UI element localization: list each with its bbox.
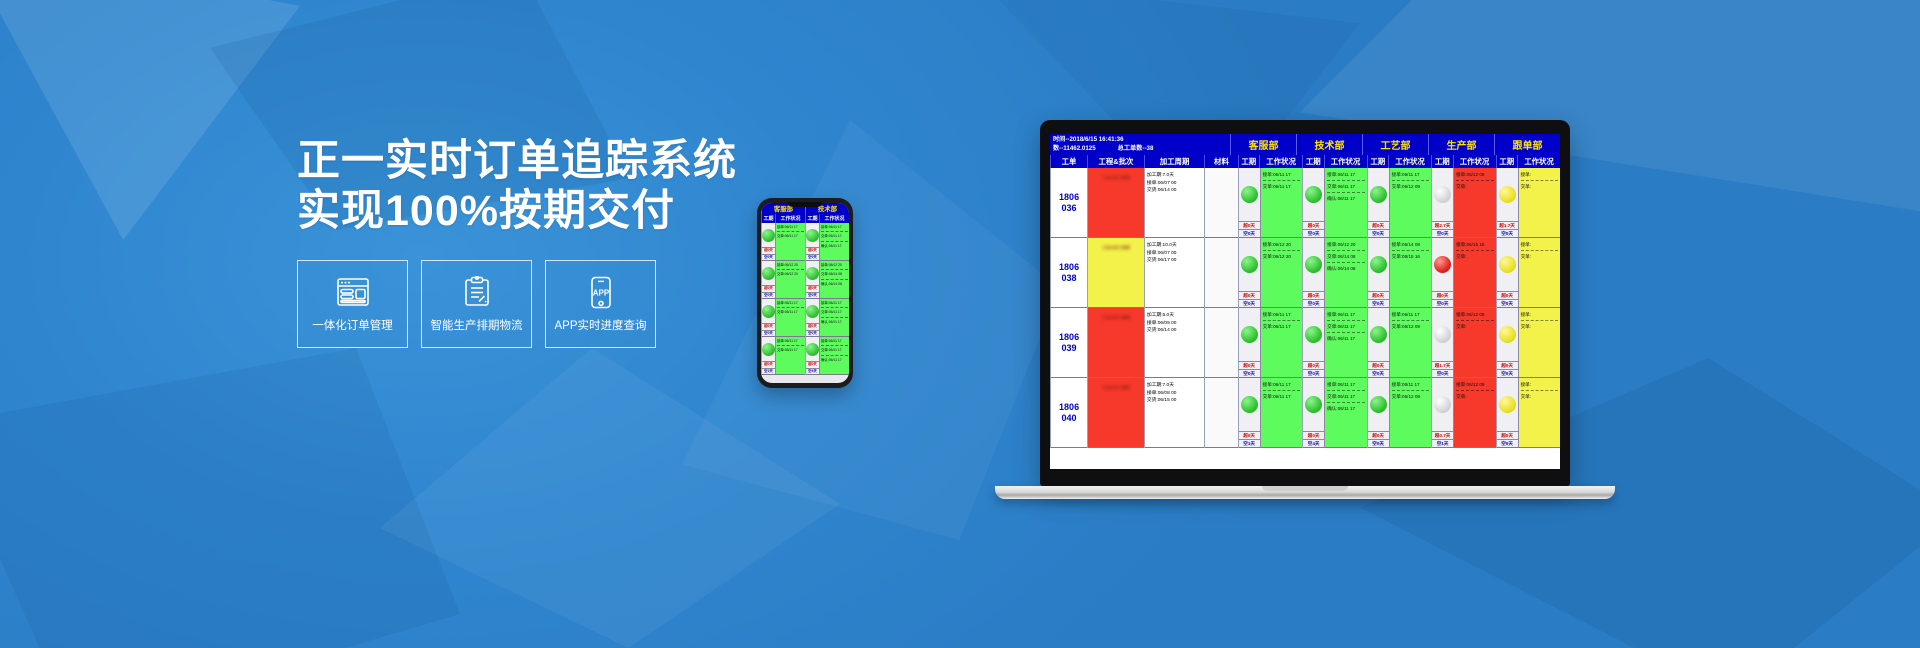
- phone-status-cell[interactable]: 超0天空0天接单:06/11 17交单:06/11 17: [762, 299, 805, 337]
- status-lamp-yellow[interactable]: [1499, 186, 1516, 203]
- date-line-1: 接单:06/12 20: [1263, 241, 1300, 251]
- idle-tag: 空0天: [1497, 229, 1518, 237]
- phone-column-header-客服部-工作状况: 工作状况: [775, 214, 805, 223]
- feature-card-production-scheduling[interactable]: 智能生产排期物流: [421, 260, 532, 348]
- idle-tag: 空0天: [1432, 229, 1453, 237]
- phone-lamp-wrapper: [806, 299, 819, 323]
- department-column-工艺部: 超0天空0天接单:06/11 17交单:06/12 09超0天空0天接单:06/…: [1367, 168, 1431, 448]
- phone-notch: [788, 202, 822, 207]
- feature-card-order-management[interactable]: 一体化订单管理: [297, 260, 408, 348]
- feature-label: APP实时进度查询: [554, 317, 646, 333]
- status-lamp-wrapper: [1497, 168, 1518, 221]
- overdue-tag: 超0天: [1239, 291, 1260, 299]
- duration-column-cell: 超0天空4天: [1303, 378, 1325, 447]
- department-header-3: 工艺部: [1362, 134, 1428, 155]
- work-status-dates: 接单:06/12 09交单:: [1454, 168, 1495, 237]
- date-line-2: 交单:: [1521, 393, 1558, 402]
- idle-tag: 空0天: [1497, 299, 1518, 307]
- work-order-suffix: 039: [1062, 343, 1077, 354]
- phone-status-cell[interactable]: 超0天空0天接单:06/11 17交单:06/11 17确认:06/11 17: [806, 223, 849, 261]
- material-cell[interactable]: [1205, 238, 1237, 308]
- status-lamp-wrapper: [1368, 168, 1389, 221]
- status-cell-生产部[interactable]: 超1.7天空0天接单:06/12 09交单:: [1432, 308, 1495, 378]
- overdue-tag: 超1.7天: [1497, 221, 1518, 229]
- phone-date-line-1: 接单:06/11 17: [821, 339, 848, 346]
- phone-work-status-dates: 接单:06/11 17交单:06/11 17确认:06/11 17: [820, 299, 849, 336]
- overdue-tag: 超0天: [1432, 291, 1453, 299]
- project-name-redacted: 工程名称已模糊: [1088, 308, 1144, 321]
- phone-duration-cell: 超0天空1天: [762, 337, 776, 374]
- column-header-base-1: 工单: [1050, 155, 1087, 168]
- erp-subheader-row: 工单工程&批次加工周期材料工期工作状况工期工作状况工期工作状况工期工作状况工期工…: [1050, 155, 1560, 168]
- overdue-tag: 超0.7天: [1432, 431, 1453, 439]
- date-line-1: 接单:: [1521, 171, 1558, 181]
- status-lamp-wrapper: [1368, 378, 1389, 431]
- phone-date-line-2: 交单:06/11 17: [821, 310, 848, 317]
- department-header-4: 生产部: [1428, 134, 1494, 155]
- date-line-1: 接单:06/11 17: [1263, 311, 1300, 321]
- status-cell-跟单部[interactable]: 超0天空0天接单:交单:: [1497, 238, 1560, 308]
- date-line-2: 交单:06/11 17: [1327, 323, 1364, 333]
- column-header-base-3: 加工周期: [1144, 155, 1205, 168]
- erp-table-grid[interactable]: 1806036180603818060391806040工程名称已模糊工程名称已…: [1050, 168, 1560, 448]
- phone-lamp-wrapper: [762, 299, 775, 323]
- work-status-dates: 接单:06/14 08交单:06/15 16: [1390, 238, 1431, 307]
- status-lamp-green[interactable]: [1305, 326, 1322, 343]
- date-line-1: 接单:06/12 09: [1456, 171, 1493, 181]
- phone-status-cell[interactable]: 超0天空4天接单:06/11 17交单:06/11 17确认:06/11 17: [806, 337, 849, 375]
- date-line-2: 交单:06/12 09: [1392, 183, 1429, 192]
- overdue-tag: 超0天: [1303, 221, 1324, 229]
- idle-tag: 空0天: [1303, 229, 1324, 237]
- date-line-1: 接单:06/11 17: [1327, 171, 1364, 181]
- phone-duration-cell: 超0天空0天: [806, 261, 820, 298]
- status-cell-技术部[interactable]: 超0天空0天接单:06/11 17交单:06/11 17确认:06/11 17: [1303, 168, 1366, 238]
- status-cell-工艺部[interactable]: 超0天空0天接单:06/11 17交单:06/12 09: [1368, 308, 1431, 378]
- phone-lamp-wrapper: [806, 223, 819, 247]
- phone-duration-cell: 超0天空0天: [806, 299, 820, 336]
- date-line-3: 确认:06/11 17: [1327, 195, 1364, 204]
- phone-status-lamp-green[interactable]: [806, 305, 819, 318]
- idle-tag: 空0天: [1432, 369, 1453, 377]
- status-lamp-wrapper: [1303, 168, 1324, 221]
- work-status-dates: 接单:交单:: [1519, 238, 1560, 307]
- overdue-tag: 超0天: [1239, 431, 1260, 439]
- feature-label: 智能生产排期物流: [431, 317, 523, 333]
- material-cell[interactable]: [1205, 308, 1237, 378]
- phone-date-line-2: 交单:06/11 17: [777, 310, 804, 316]
- feature-list: 一体化订单管理 智能生产排期物流: [297, 260, 997, 348]
- status-cell-跟单部[interactable]: 超0天空0天接单:交单:: [1497, 378, 1560, 448]
- department-column-生产部: 超2.7天空0天接单:06/12 09交单:超0天空0天接单:06/15 16交…: [1431, 168, 1495, 448]
- cycle-line-2: 接单:06/08 00: [1147, 390, 1203, 398]
- column-header-客服部-工作状况: 工作状况: [1259, 155, 1302, 168]
- status-lamp-green[interactable]: [1305, 256, 1322, 273]
- status-lamp-yellow[interactable]: [1499, 396, 1516, 413]
- overdue-tag: 超1.7天: [1432, 361, 1453, 369]
- date-line-2: 交单:06/11 17: [1263, 323, 1300, 332]
- status-lamp-green[interactable]: [1305, 396, 1322, 413]
- phone-status-lamp-green[interactable]: [806, 267, 819, 280]
- department-column-客服部: 超0天空0天接单:06/11 17交单:06/11 17超0天空0天接单:06/…: [1238, 168, 1302, 448]
- status-lamp-wrapper: [1239, 308, 1260, 361]
- date-line-2: 交单:06/11 17: [1263, 183, 1300, 192]
- cycle-line-1: 加工期:10.0天: [1147, 242, 1203, 250]
- duration-column-cell: 超0天空0天: [1497, 238, 1519, 307]
- app-icon-text: APP: [592, 288, 609, 297]
- work-order-prefix: 1806: [1059, 262, 1079, 273]
- phone-work-status-dates: 接单:06/11 17交单:06/11 17确认:06/11 17: [820, 223, 849, 260]
- phone-idle-tag: 空0天: [762, 330, 775, 336]
- duration-column-cell: 超1.7天空0天: [1497, 168, 1519, 237]
- column-header-技术部-工期: 工期: [1302, 155, 1324, 168]
- project-name-redacted: 工程名称已模糊: [1088, 168, 1144, 181]
- idle-tag: 空0天: [1239, 299, 1260, 307]
- work-order-prefix: 1806: [1059, 332, 1079, 343]
- processing-cycle-cell[interactable]: 加工期:10.0天接单:06/07 00交货:06/17 00: [1145, 238, 1205, 308]
- column-header-技术部-工作状况: 工作状况: [1324, 155, 1367, 168]
- phone-column-header-技术部-工作状况: 工作状况: [819, 214, 849, 223]
- status-lamp-wrapper: [1303, 378, 1324, 431]
- date-line-2: 交单:06/14 08: [1327, 253, 1364, 263]
- phone-screen[interactable]: 客服部技术部 工期工作状况工期工作状况 超0天空0天接单:06/11 17交单:…: [761, 203, 849, 383]
- phone-status-lamp-green[interactable]: [806, 343, 819, 356]
- cycle-line-1: 加工期:7.0天: [1147, 382, 1203, 390]
- processing-cycle-cell[interactable]: 加工期:7.0天接单:06/07 00交货:06/14 00: [1145, 168, 1205, 238]
- hero-banner: 正一实时订单追踪系统 实现100%按期交付: [0, 0, 1920, 648]
- phone-work-status-dates: 接单:06/11 17交单:06/11 17确认:06/11 17: [820, 337, 849, 374]
- column-header-工艺部-工作状况: 工作状况: [1388, 155, 1431, 168]
- date-line-3: 确认:06/14 08: [1327, 265, 1364, 274]
- column-header-跟单部-工作状况: 工作状况: [1517, 155, 1560, 168]
- phone-lamp-wrapper: [806, 261, 819, 285]
- laptop-screen[interactable]: 时间--2018/6/15 16:41:36 数--11462.0125 总工单…: [1050, 134, 1560, 469]
- overdue-tag: 超0天: [1239, 361, 1260, 369]
- cycle-line-2: 接单:06/07 00: [1147, 180, 1203, 188]
- erp-counter-label: 数--11462.0125: [1053, 145, 1096, 154]
- status-cell-技术部[interactable]: 超0天空4天接单:06/11 17交单:06/11 17确认:06/11 17: [1303, 378, 1366, 448]
- phone-idle-tag: 空4天: [806, 368, 819, 374]
- duration-column-cell: 超0天空0天: [1239, 238, 1261, 307]
- date-line-3: 确认:06/11 17: [1327, 335, 1364, 344]
- work-status-dates: 接单:交单:: [1519, 168, 1560, 237]
- processing-cycle-cell[interactable]: 加工期:7.0天接单:06/08 00交货:06/15 00: [1145, 378, 1205, 448]
- phone-status-cell[interactable]: 超0天空0天接单:06/12 20交单:06/14 08确认:06/14 08: [806, 261, 849, 299]
- phone-date-line-1: 接单:06/11 17: [777, 339, 804, 346]
- status-lamp-green[interactable]: [1241, 186, 1258, 203]
- work-status-dates: 接单:06/12 09交单:: [1454, 378, 1495, 447]
- duration-column-cell: 超0天空0天: [1239, 308, 1261, 377]
- status-lamp-green[interactable]: [1241, 256, 1258, 273]
- duration-column-cell: 超1.7天空0天: [1432, 308, 1454, 377]
- idle-tag: 空0天: [1432, 299, 1453, 307]
- status-cell-生产部[interactable]: 超0.7天空1天接单:06/12 09交单:: [1432, 378, 1495, 448]
- column-header-工艺部-工期: 工期: [1367, 155, 1389, 168]
- phone-status-cell[interactable]: 超0天空0天接单:06/11 17交单:06/11 17确认:06/11 17: [806, 299, 849, 337]
- date-line-2: 交单:06/12 20: [1263, 253, 1300, 262]
- duration-column-cell: 超0天空0天: [1368, 308, 1390, 377]
- phone-work-status-dates: 接单:06/12 20交单:06/12 20: [776, 261, 805, 298]
- phone-status-cell[interactable]: 超0天空0天接单:06/11 17交单:06/11 17: [762, 223, 805, 261]
- processing-cycle-cell[interactable]: 加工期:5.0天接单:06/09 00交货:06/14 00: [1145, 308, 1205, 378]
- feature-label: 一体化订单管理: [312, 317, 393, 333]
- duration-column-cell: 超0天空0天: [1239, 168, 1261, 237]
- status-cell-生产部[interactable]: 超0天空0天接单:06/15 16交单:: [1432, 238, 1495, 308]
- date-line-1: 接单:06/12 09: [1456, 381, 1493, 391]
- phone-duration-cell: 超0天空0天: [806, 223, 820, 260]
- phone-column-header-技术部-工期: 工期: [805, 214, 819, 223]
- column-header-跟单部-工期: 工期: [1496, 155, 1518, 168]
- idle-tag: 空0天: [1303, 299, 1324, 307]
- date-line-2: 交单:: [1521, 323, 1558, 332]
- work-status-dates: 接单:交单:: [1519, 378, 1560, 447]
- laptop-base: [995, 486, 1615, 499]
- duration-column-cell: 超0天空0天: [1432, 238, 1454, 307]
- status-lamp-green[interactable]: [1241, 326, 1258, 343]
- idle-tag: 空1天: [1239, 439, 1260, 447]
- phone-department-column-技术部: 超0天空0天接单:06/11 17交单:06/11 17确认:06/11 17超…: [805, 223, 849, 375]
- work-status-dates: 接单:06/11 17交单:06/11 17确认:06/11 17: [1325, 308, 1366, 377]
- project-name-redacted: 工程名称已模糊: [1088, 238, 1144, 251]
- work-status-dates: 接单:06/11 17交单:06/11 17: [1261, 168, 1302, 237]
- date-line-2: 交单:: [1521, 253, 1558, 262]
- work-status-dates: 接单:06/11 17交单:06/12 09: [1390, 168, 1431, 237]
- overdue-tag: 超0天: [1303, 361, 1324, 369]
- date-line-2: 交单:: [1456, 393, 1493, 402]
- phone-date-line-1: 接单:06/11 17: [821, 225, 848, 232]
- status-cell-客服部[interactable]: 超0天空0天接单:06/11 17交单:06/11 17: [1239, 308, 1302, 378]
- status-lamp-yellow[interactable]: [1499, 256, 1516, 273]
- phone-date-line-3: 确认:06/11 17: [821, 320, 848, 326]
- material-cell[interactable]: [1205, 168, 1237, 238]
- phone-idle-tag: 空0天: [762, 254, 775, 260]
- date-line-1: 接单:06/12 20: [1327, 241, 1364, 251]
- date-line-2: 交单:06/15 16: [1392, 253, 1429, 262]
- phone-date-line-1: 接单:06/11 17: [777, 225, 804, 232]
- status-cell-客服部[interactable]: 超0天空0天接单:06/11 17交单:06/11 17: [1239, 168, 1302, 238]
- column-header-base-4: 材料: [1204, 155, 1237, 168]
- phone-date-line-3: 确认:06/11 17: [821, 244, 848, 250]
- phone-status-lamp-green[interactable]: [762, 267, 775, 280]
- idle-tag: 空0天: [1497, 369, 1518, 377]
- phone-date-line-3: 确认:06/14 08: [821, 282, 848, 288]
- phone-status-lamp-green[interactable]: [806, 229, 819, 242]
- idle-tag: 空1天: [1432, 439, 1453, 447]
- duration-column-cell: 超0天空0天: [1368, 168, 1390, 237]
- phone-date-line-1: 接单:06/12 20: [821, 263, 848, 270]
- status-cell-客服部[interactable]: 超0天空1天接单:06/11 17交单:06/11 17: [1239, 378, 1302, 448]
- overdue-tag: 超0天: [1497, 361, 1518, 369]
- status-lamp-wrapper: [1432, 378, 1453, 431]
- date-line-1: 接单:06/12 09: [1456, 311, 1493, 321]
- erp-total-orders-label: 总工单数--38: [1118, 145, 1154, 154]
- date-line-1: 接单:: [1521, 381, 1558, 391]
- decorative-polygon: [0, 348, 460, 648]
- project-batch-cell[interactable]: 工程名称已模糊: [1088, 308, 1144, 378]
- department-column-技术部: 超0天空0天接单:06/11 17交单:06/11 17确认:06/11 17超…: [1302, 168, 1366, 448]
- status-cell-生产部[interactable]: 超2.7天空0天接单:06/12 09交单:: [1432, 168, 1495, 238]
- work-order-suffix: 038: [1062, 273, 1077, 284]
- status-cell-客服部[interactable]: 超0天空0天接单:06/12 20交单:06/12 20: [1239, 238, 1302, 308]
- status-lamp-yellow[interactable]: [1499, 326, 1516, 343]
- phone-idle-tag: 空0天: [762, 292, 775, 298]
- status-cell-跟单部[interactable]: 超1.7天空0天接单:交单:: [1497, 168, 1560, 238]
- phone-status-lamp-green[interactable]: [762, 229, 775, 242]
- phone-status-lamp-green[interactable]: [762, 343, 775, 356]
- phone-duration-cell: 超0天空0天: [762, 261, 776, 298]
- phone-status-cell[interactable]: 超0天空0天接单:06/12 20交单:06/12 20: [762, 261, 805, 299]
- date-line-1: 接单:06/15 16: [1456, 241, 1493, 251]
- work-order-cell[interactable]: 1806040: [1051, 378, 1087, 448]
- department-column-跟单部: 超1.7天空0天接单:交单:超0天空0天接单:交单:超0天空0天接单:交单:超0…: [1496, 168, 1560, 448]
- date-line-1: 接单:: [1521, 311, 1558, 321]
- laptop-base-notch: [1262, 486, 1348, 491]
- material-cell[interactable]: [1205, 378, 1237, 448]
- date-line-2: 交单:: [1456, 253, 1493, 262]
- status-lamp-red[interactable]: [1434, 256, 1451, 273]
- status-lamp-gray[interactable]: [1434, 396, 1451, 413]
- status-lamp-green[interactable]: [1241, 396, 1258, 413]
- phone-date-line-3: 确认:06/11 17: [821, 358, 848, 364]
- duration-column-cell: 超0天空0天: [1497, 308, 1519, 377]
- cycle-line-3: 交货:06/17 00: [1147, 257, 1203, 265]
- clipboard-icon: [463, 275, 491, 309]
- work-order-prefix: 1806: [1059, 402, 1079, 413]
- cycle-line-3: 交货:06/14 00: [1147, 187, 1203, 195]
- overdue-tag: 超0天: [1497, 291, 1518, 299]
- idle-tag: 空0天: [1368, 229, 1389, 237]
- status-cell-工艺部[interactable]: 超0天空0天接单:06/11 17交单:06/12 09: [1368, 168, 1431, 238]
- status-cell-工艺部[interactable]: 超0天空0天接单:06/11 17交单:06/12 09: [1368, 378, 1431, 448]
- status-lamp-wrapper: [1497, 238, 1518, 291]
- work-status-dates: 接单:06/15 16交单:: [1454, 238, 1495, 307]
- project-batch-cell[interactable]: 工程名称已模糊: [1088, 378, 1144, 448]
- date-line-2: 交单:: [1456, 323, 1493, 332]
- date-line-2: 交单:06/11 17: [1263, 393, 1300, 402]
- cycle-line-1: 加工期:7.0天: [1147, 172, 1203, 180]
- phone-date-line-2: 交单:06/11 17: [777, 348, 804, 354]
- date-line-2: 交单:: [1456, 183, 1493, 192]
- date-line-3: 确认:06/11 17: [1327, 405, 1364, 414]
- department-header-5: 跟单部: [1494, 134, 1560, 155]
- status-lamp-wrapper: [1432, 238, 1453, 291]
- status-lamp-wrapper: [1368, 238, 1389, 291]
- duration-column-cell: 超0天空0天: [1368, 378, 1390, 447]
- project-name-redacted: 工程名称已模糊: [1088, 378, 1144, 391]
- headline-line-1: 正一实时订单追踪系统: [297, 136, 997, 186]
- overdue-tag: 超0天: [1368, 431, 1389, 439]
- status-lamp-green[interactable]: [1370, 186, 1387, 203]
- duration-column-cell: 超0天空0天: [1368, 238, 1390, 307]
- date-line-1: 接单:06/14 08: [1392, 241, 1429, 251]
- phone-status-lamp-green[interactable]: [762, 305, 775, 318]
- department-header-1: 客服部: [1230, 134, 1296, 155]
- status-lamp-wrapper: [1303, 308, 1324, 361]
- duration-column-cell: 超2.7天空0天: [1432, 168, 1454, 237]
- column-header-base-2: 工程&批次: [1087, 155, 1144, 168]
- phone-idle-tag: 空1天: [762, 368, 775, 374]
- phone-duration-cell: 超0天空0天: [762, 223, 776, 260]
- headline-line-2: 实现100%按期交付: [297, 186, 997, 236]
- status-cell-工艺部[interactable]: 超0天空0天接单:06/14 08交单:06/15 16: [1368, 238, 1431, 308]
- date-line-1: 接单:06/11 17: [1263, 381, 1300, 391]
- work-order-prefix: 1806: [1059, 192, 1079, 203]
- material-column: [1204, 168, 1237, 448]
- project-batch-cell[interactable]: 工程名称已模糊: [1088, 238, 1144, 308]
- phone-date-line-1: 接单:06/11 17: [821, 301, 848, 308]
- phone-subheader-row: 工期工作状况工期工作状况: [761, 214, 849, 223]
- work-order-cell[interactable]: 1806038: [1051, 238, 1087, 308]
- phone-date-line-2: 交单:06/11 17: [821, 348, 848, 355]
- status-lamp-wrapper: [1239, 238, 1260, 291]
- date-line-2: 交单:06/11 17: [1327, 183, 1364, 193]
- phone-date-line-1: 接单:06/11 17: [777, 301, 804, 308]
- overdue-tag: 超0天: [1239, 221, 1260, 229]
- date-line-2: 交单:06/12 09: [1392, 323, 1429, 332]
- work-status-dates: 接单:06/12 20交单:06/14 08确认:06/14 08: [1325, 238, 1366, 307]
- status-lamp-green[interactable]: [1370, 326, 1387, 343]
- phone-idle-tag: 空0天: [806, 292, 819, 298]
- cycle-line-2: 接单:06/07 00: [1147, 250, 1203, 258]
- work-status-dates: 接单:06/12 20交单:06/12 20: [1261, 238, 1302, 307]
- status-cell-技术部[interactable]: 超0天空0天接单:06/11 17交单:06/11 17确认:06/11 17: [1303, 308, 1366, 378]
- work-order-cell[interactable]: 1806036: [1051, 168, 1087, 238]
- cycle-line-2: 接单:06/09 00: [1147, 320, 1203, 328]
- phone-work-status-dates: 接单:06/11 17交单:06/11 17: [776, 299, 805, 336]
- phone-date-line-2: 交单:06/14 08: [821, 272, 848, 279]
- status-lamp-gray[interactable]: [1434, 326, 1451, 343]
- idle-tag: 空0天: [1497, 439, 1518, 447]
- phone-lamp-wrapper: [762, 261, 775, 285]
- work-status-dates: 接单:交单:: [1519, 308, 1560, 377]
- status-lamp-green[interactable]: [1370, 396, 1387, 413]
- duration-column-cell: 超0天空1天: [1239, 378, 1261, 447]
- status-lamp-wrapper: [1497, 308, 1518, 361]
- status-lamp-wrapper: [1303, 238, 1324, 291]
- project-batch-cell[interactable]: 工程名称已模糊: [1088, 168, 1144, 238]
- date-line-1: 接单:06/11 17: [1263, 171, 1300, 181]
- phone-date-line-2: 交单:06/12 20: [777, 272, 804, 278]
- smartphone-mockup: 客服部技术部 工期工作状况工期工作状况 超0天空0天接单:06/11 17交单:…: [757, 198, 853, 388]
- phone-date-line-1: 接单:06/12 20: [777, 263, 804, 270]
- phone-duration-cell: 超0天空0天: [762, 299, 776, 336]
- dashboard-icon: [336, 275, 370, 309]
- phone-work-status-dates: 接单:06/11 17交单:06/11 17: [776, 223, 805, 260]
- idle-tag: 空0天: [1368, 299, 1389, 307]
- work-status-dates: 接单:06/11 17交单:06/11 17确认:06/11 17: [1325, 168, 1366, 237]
- status-cell-跟单部[interactable]: 超0天空0天接单:交单:: [1497, 308, 1560, 378]
- overdue-tag: 超2.7天: [1432, 221, 1453, 229]
- phone-lamp-wrapper: [762, 223, 775, 247]
- status-lamp-green[interactable]: [1305, 186, 1322, 203]
- erp-meta-block: 时间--2018/6/15 16:41:36 数--11462.0125 总工单…: [1050, 134, 1230, 155]
- work-status-dates: 接单:06/11 17交单:06/11 17: [1261, 308, 1302, 377]
- feature-card-app-progress-query[interactable]: APP APP实时进度查询: [545, 260, 656, 348]
- status-cell-技术部[interactable]: 超0天空0天接单:06/12 20交单:06/14 08确认:06/14 08: [1303, 238, 1366, 308]
- idle-tag: 空0天: [1368, 369, 1389, 377]
- column-header-生产部-工作状况: 工作状况: [1453, 155, 1496, 168]
- phone-status-cell[interactable]: 超0天空1天接单:06/11 17交单:06/11 17: [762, 337, 805, 375]
- phone-date-line-2: 交单:06/11 17: [777, 234, 804, 240]
- phone-table-grid[interactable]: 超0天空0天接单:06/11 17交单:06/11 17超0天空0天接单:06/…: [761, 223, 849, 375]
- date-line-1: 接单:06/11 17: [1392, 311, 1429, 321]
- status-lamp-wrapper: [1432, 308, 1453, 361]
- status-lamp-gray[interactable]: [1434, 186, 1451, 203]
- work-order-cell[interactable]: 1806039: [1051, 308, 1087, 378]
- department-header-2: 技术部: [1296, 134, 1362, 155]
- status-lamp-green[interactable]: [1370, 256, 1387, 273]
- date-line-1: 接单:06/11 17: [1392, 171, 1429, 181]
